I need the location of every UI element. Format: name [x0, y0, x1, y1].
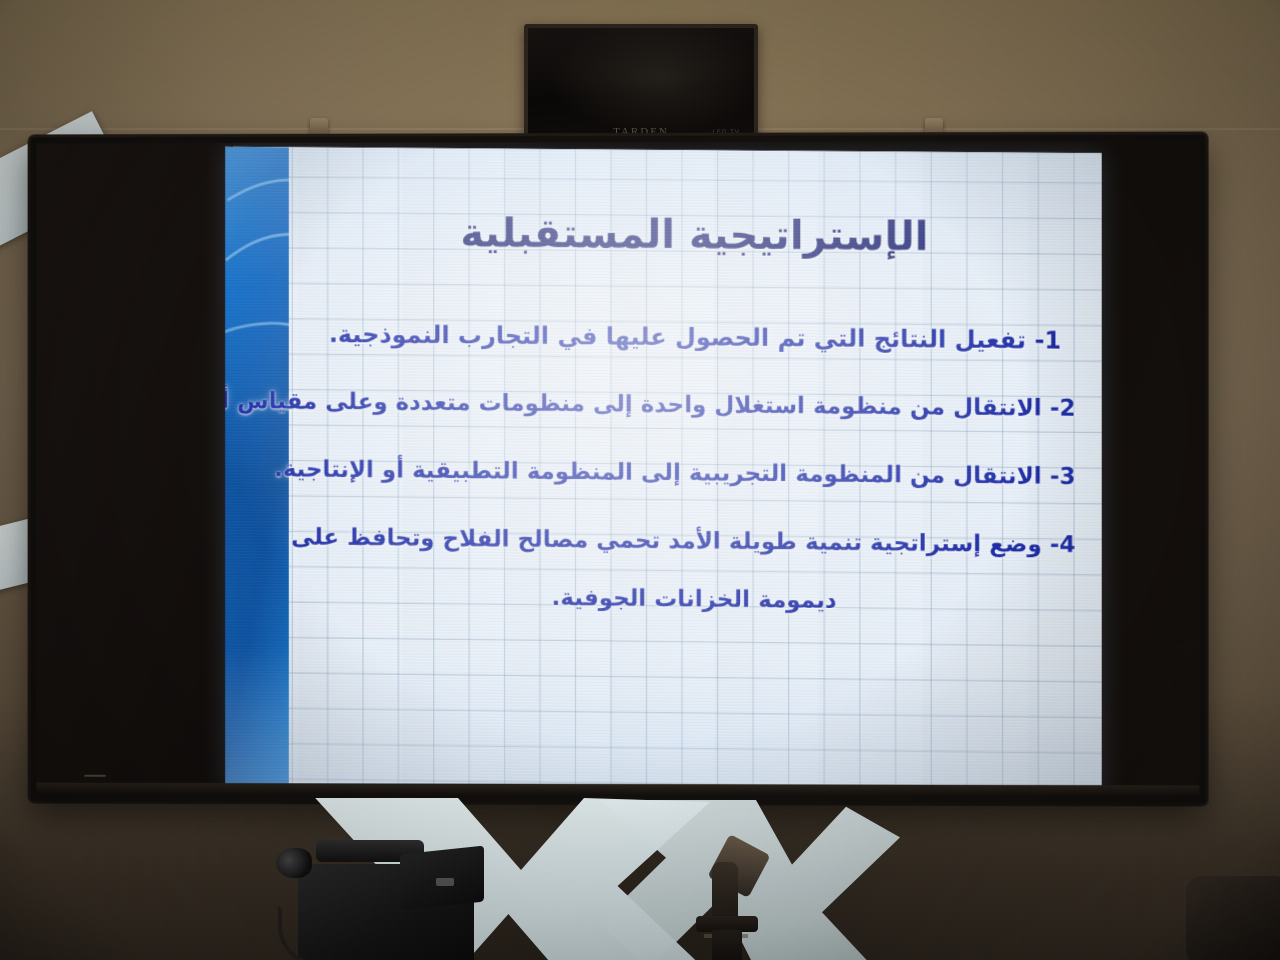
slide-bullet-4-continued: ديمومة الخزانات الجوفية. [315, 582, 1076, 619]
secondary-monitor: TARDEN LED TV [524, 24, 758, 148]
slide-bullet-3: 3- الانتقال من المنظومة التجريبية إلى ال… [315, 455, 1076, 491]
slide-content: الإستراتيجية المستقبلية 1- تفعيل النتائج… [289, 147, 1102, 797]
slide-bullet-4: 4- وضع إستراتجية تنمية طويلة الأمد تحمي … [315, 523, 1076, 559]
video-camera [276, 826, 536, 960]
camera-eyecup [276, 848, 312, 878]
tv-panel: الإستراتيجية المستقبلية 1- تفعيل النتائج… [37, 141, 1200, 798]
tv-bottom-lip [37, 783, 1200, 798]
camera-mount-head [690, 842, 800, 960]
presentation-slide: الإستراتيجية المستقبلية 1- تفعيل النتائج… [225, 147, 1102, 798]
slide-bullet-1: 1- تفعيل النتائج التي تم الحصول عليها في… [315, 319, 1076, 356]
slide-bullet-2: 2- الانتقال من منظومة استغلال واحدة إلى … [315, 388, 1076, 424]
main-display-tv[interactable]: الإستراتيجية المستقبلية 1- تفعيل النتائج… [31, 135, 1206, 804]
tv-power-led [84, 775, 106, 777]
photo-scene: TARDEN LED TV الإستراتيجية المستقبلية 1-… [0, 0, 1280, 960]
camera-highlight [436, 878, 454, 886]
mount-neck [712, 862, 738, 920]
mount-post [712, 930, 742, 960]
foreground-object-right [1186, 876, 1280, 960]
slide-title: الإستراتيجية المستقبلية [315, 209, 1076, 261]
band-shading [225, 296, 289, 716]
camera-cable [278, 906, 334, 960]
